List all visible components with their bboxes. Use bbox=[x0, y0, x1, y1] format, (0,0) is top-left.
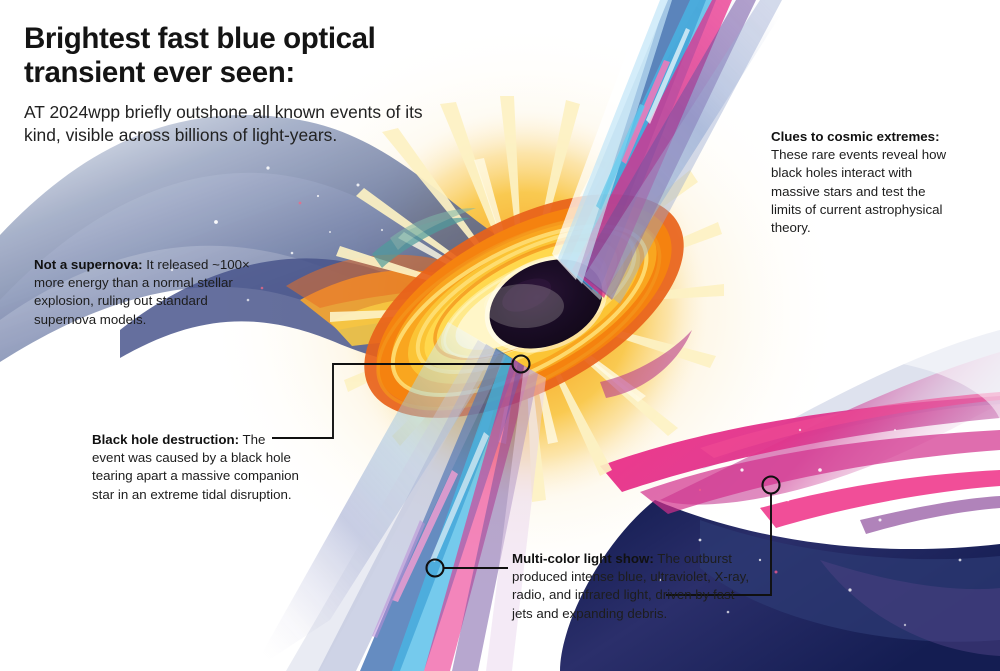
page-title: Brightest fast blue optical transient ev… bbox=[24, 22, 454, 90]
infographic-page: Brightest fast blue optical transient ev… bbox=[0, 0, 1000, 671]
callout-black-hole-destruction: Black hole destruction: The event was ca… bbox=[92, 431, 300, 504]
callout-not-a-supernova: Not a supernova: It released ~100× more … bbox=[34, 256, 266, 329]
callout-body-clues-to-cosmic-extremes: These rare events reveal how black holes… bbox=[771, 147, 946, 235]
callout-lead-not-a-supernova: Not a supernova: bbox=[34, 257, 143, 272]
callout-multi-color-light-show: Multi-color light show: The outburst pro… bbox=[512, 550, 752, 623]
page-subtitle: AT 2024wpp briefly outshone all known ev… bbox=[24, 101, 444, 147]
callout-clues-to-cosmic-extremes: Clues to cosmic extremes: These rare eve… bbox=[771, 128, 957, 237]
callout-lead-multi-color-light-show: Multi-color light show: bbox=[512, 551, 654, 566]
callout-lead-black-hole-destruction: Black hole destruction: bbox=[92, 432, 239, 447]
callout-lead-clues-to-cosmic-extremes: Clues to cosmic extremes: bbox=[771, 129, 940, 144]
